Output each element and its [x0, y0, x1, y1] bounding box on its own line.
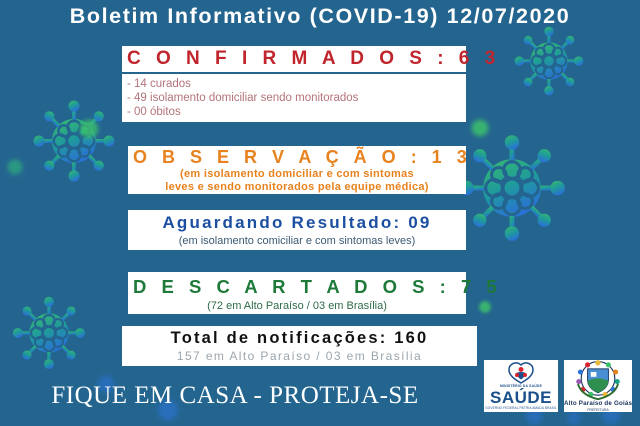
observacao-subtitle-line-1: (em isolamento domiciliar e com sintomas	[128, 168, 466, 181]
confirmados-detail-obitos: - 00 óbitos	[125, 105, 466, 119]
descartados-title: D E S C A R T A D O S : 7 5	[128, 272, 466, 299]
virus-particle-small-icon	[478, 300, 492, 314]
aguardando-resultado-subtitle: (em isolamento comiciliar e com sintomas…	[128, 234, 466, 248]
descartados-subtitle: (72 em Alto Paraíso / 03 em Brasília)	[128, 299, 466, 313]
observacao-subtitle-line-2: leves e sendo monitorados pela equipe mé…	[128, 181, 466, 194]
virus-particle-small-icon	[566, 410, 582, 426]
aguardando-resultado-title: Aguardando Resultado: 09	[128, 210, 466, 234]
saude-wordmark: SAÚDE	[484, 389, 558, 406]
confirmados-detail-curados: - 14 curados	[125, 77, 466, 91]
coat-of-arms-icon	[570, 360, 626, 400]
virus-particle-small-icon	[470, 118, 490, 138]
aguardando-resultado-box: Aguardando Resultado: 09 (em isolamento …	[128, 210, 466, 250]
covid-bulletin-poster: Boletim Informativo (COVID-19) 12/07/202…	[0, 0, 640, 426]
confirmados-detail-isolamento: - 49 isolamento domiciliar sendo monitor…	[125, 91, 466, 105]
observacao-title: O B S E R V A Ç Ã O : 1 3	[128, 146, 466, 168]
virus-particle-icon	[452, 128, 572, 248]
total-notificacoes-title: Total de notificações: 160	[122, 326, 477, 349]
saude-gov-sub: GOVERNO FEDERAL PÁTRIA AMADA BRASIL	[484, 406, 558, 411]
slogan-text: FIQUE EM CASA - PROTEJA-SE	[0, 382, 470, 410]
total-notificacoes-subtitle: 157 em Alto Paraíso / 03 em Brasília	[122, 349, 477, 364]
confirmados-title-box: C O N F I R M A D O S : 6 3	[122, 46, 466, 72]
descartados-box: D E S C A R T A D O S : 7 5 (72 em Alto …	[128, 272, 466, 314]
confirmados-title: C O N F I R M A D O S : 6 3	[122, 46, 466, 72]
page-title: Boletim Informativo (COVID-19) 12/07/202…	[0, 4, 640, 29]
virus-particle-icon	[510, 22, 588, 100]
municipio-name: Alto Paraíso de Goiás	[564, 400, 632, 408]
virus-particle-small-icon	[78, 118, 100, 140]
municipio-subtitle: PREFEITURA	[564, 408, 632, 412]
virus-particle-icon	[8, 292, 90, 374]
total-notificacoes-box: Total de notificações: 160 157 em Alto P…	[122, 326, 477, 366]
virus-particle-small-icon	[6, 158, 24, 176]
municipio-brasao-logo: Alto Paraíso de Goiás PREFEITURA	[564, 360, 632, 412]
confirmados-detail-box: - 14 curados - 49 isolamento domiciliar …	[122, 74, 466, 122]
observacao-box: O B S E R V A Ç Ã O : 1 3 (em isolamento…	[128, 146, 466, 194]
saude-heart-icon	[506, 362, 536, 384]
virus-particle-icon	[28, 95, 120, 187]
ministerio-saude-logo: MINISTÉRIO DA SAÚDE SAÚDE GOVERNO FEDERA…	[484, 360, 558, 412]
